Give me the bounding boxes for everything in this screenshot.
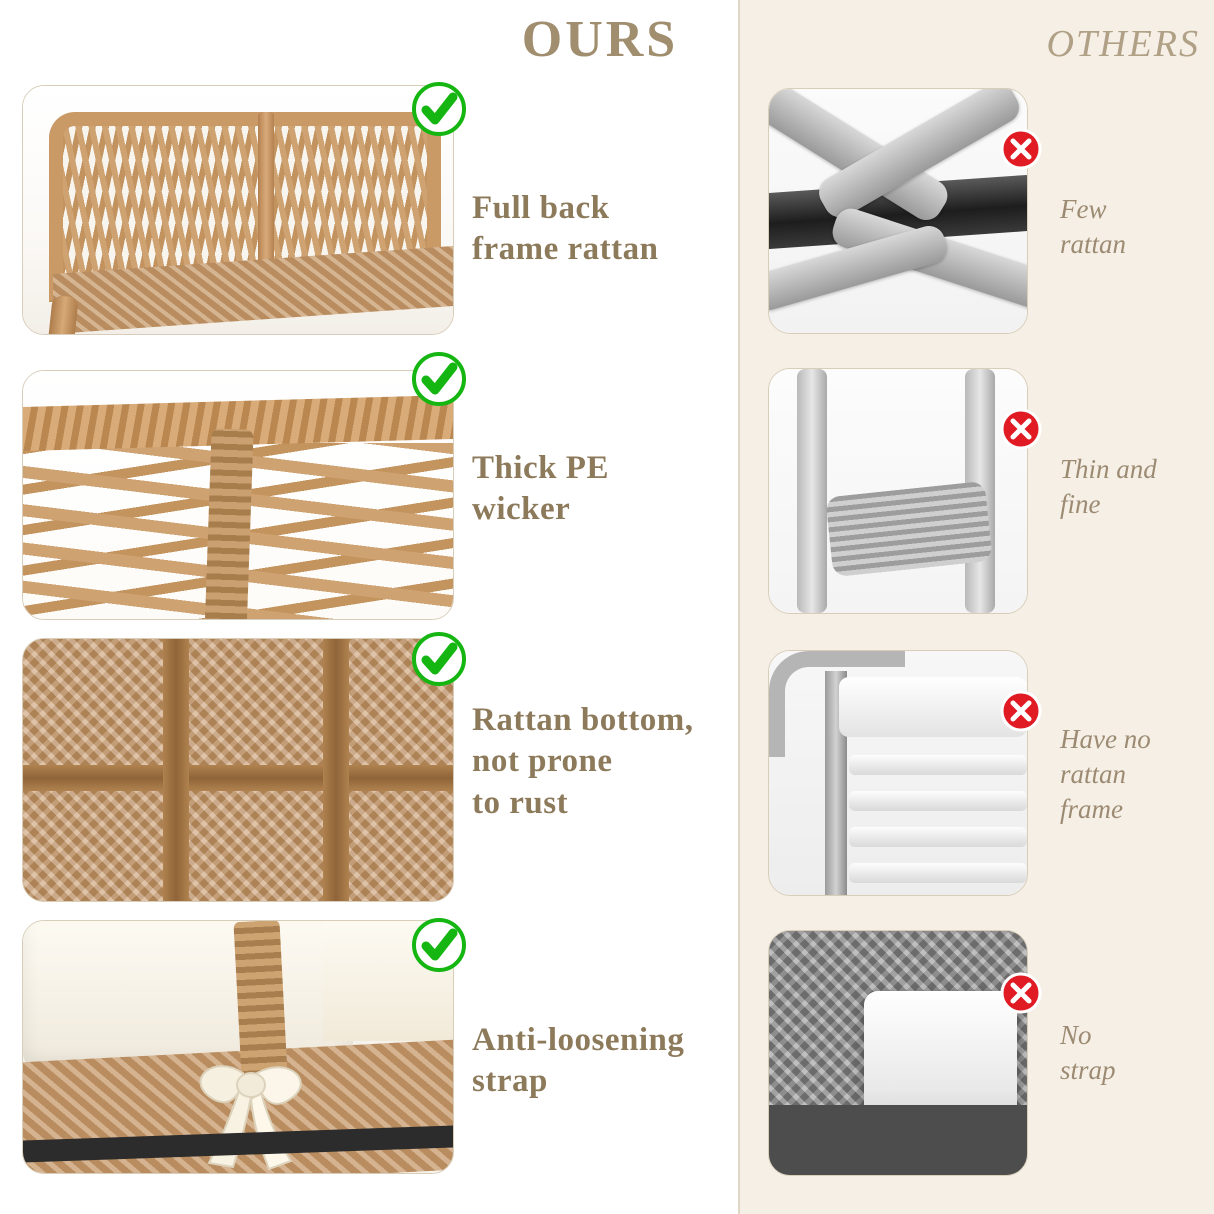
check-icon (412, 82, 466, 136)
cross-badge-2 (1000, 408, 1042, 450)
others-label-1-line2: rattan (1060, 227, 1200, 262)
others-photo-3 (768, 650, 1028, 896)
cross-badge-4 (1000, 972, 1042, 1014)
others-photo-2 (768, 368, 1028, 614)
ours-label-1: Full back frame rattan (472, 188, 722, 271)
others-label-3-line1: Have no (1060, 722, 1210, 757)
cross-badge-1 (1000, 128, 1042, 170)
ours-photo-4 (22, 920, 454, 1174)
ours-label-4: Anti-loosening strap (472, 1020, 732, 1103)
heading-ours: OURS (430, 10, 770, 69)
ours-photo-2 (22, 370, 454, 620)
ours-label-2-line1: Thick PE (472, 448, 722, 489)
others-photo-4 (768, 930, 1028, 1176)
wrapped-post (204, 428, 253, 620)
metal-slat-3 (849, 827, 1027, 847)
check-badge-3 (412, 632, 466, 686)
cross-icon (1000, 690, 1042, 732)
ours-photo-1 (22, 85, 454, 335)
cross-icon (1000, 972, 1042, 1014)
ours-label-3-line1: Rattan bottom, (472, 700, 742, 741)
ours-label-4-line2: strap (472, 1061, 732, 1102)
check-badge-1 (412, 82, 466, 136)
metal-slat-2 (849, 791, 1027, 811)
others-label-1-line1: Few (1060, 192, 1200, 227)
white-cushion (839, 677, 1027, 737)
ours-label-4-line1: Anti-loosening (472, 1020, 732, 1061)
heading-others: OTHERS (960, 22, 1200, 66)
metal-slat-4 (849, 863, 1027, 883)
check-badge-4 (412, 918, 466, 972)
ours-label-3-line3: to rust (472, 783, 742, 824)
dark-base (769, 1105, 1027, 1175)
ours-label-3: Rattan bottom, not prone to rust (472, 700, 742, 824)
others-label-2-line1: Thin and (1060, 452, 1210, 487)
check-icon (412, 918, 466, 972)
check-icon (412, 632, 466, 686)
ours-label-3-line2: not prone (472, 741, 742, 782)
thin-wicker-knot (825, 481, 992, 577)
check-icon (412, 352, 466, 406)
support-bar-vertical (163, 639, 189, 901)
others-label-1: Few rattan (1060, 192, 1200, 262)
others-label-4: No strap (1060, 1018, 1210, 1088)
others-label-2: Thin and fine (1060, 452, 1210, 522)
others-label-3-line3: frame (1060, 792, 1210, 827)
ours-label-1-line1: Full back (472, 188, 722, 229)
support-bar-vertical-2 (323, 639, 349, 901)
others-label-3: Have no rattan frame (1060, 722, 1210, 827)
panel-divider (738, 0, 740, 1214)
ours-label-2: Thick PE wicker (472, 448, 722, 531)
others-label-3-line2: rattan (1060, 757, 1210, 792)
check-badge-2 (412, 352, 466, 406)
others-label-4-line2: strap (1060, 1053, 1210, 1088)
others-photo-1 (768, 88, 1028, 334)
ours-label-1-line2: frame rattan (472, 229, 722, 270)
others-label-2-line2: fine (1060, 487, 1210, 522)
others-label-4-line1: No (1060, 1018, 1210, 1053)
ours-label-2-line2: wicker (472, 489, 722, 530)
support-bar-horizontal (23, 765, 453, 791)
chair-leg-left (797, 369, 827, 613)
metal-slat-1 (849, 755, 1027, 775)
cross-icon (1000, 408, 1042, 450)
ours-photo-3 (22, 638, 454, 902)
cross-icon (1000, 128, 1042, 170)
cross-badge-3 (1000, 690, 1042, 732)
comparison-infographic: OURS OTHERS Full back frame rattan Thick… (0, 0, 1214, 1214)
